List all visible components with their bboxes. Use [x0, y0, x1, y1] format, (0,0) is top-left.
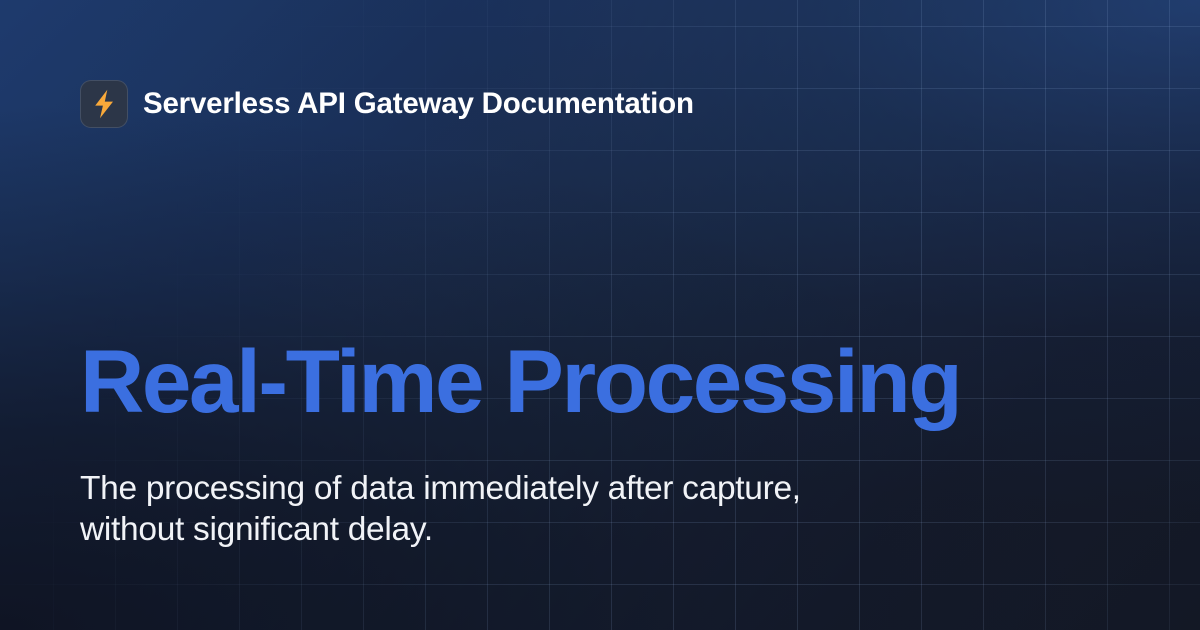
- brand-badge: [80, 80, 128, 128]
- card-content: Serverless API Gateway Documentation Rea…: [0, 0, 1200, 630]
- og-card: Serverless API Gateway Documentation Rea…: [0, 0, 1200, 630]
- lightning-bolt-icon: [91, 89, 117, 119]
- brand-header: Serverless API Gateway Documentation: [80, 80, 694, 128]
- brand-title: Serverless API Gateway Documentation: [143, 89, 694, 119]
- page-title: Real-Time Processing: [80, 334, 960, 428]
- page-subtitle: The processing of data immediately after…: [80, 468, 820, 550]
